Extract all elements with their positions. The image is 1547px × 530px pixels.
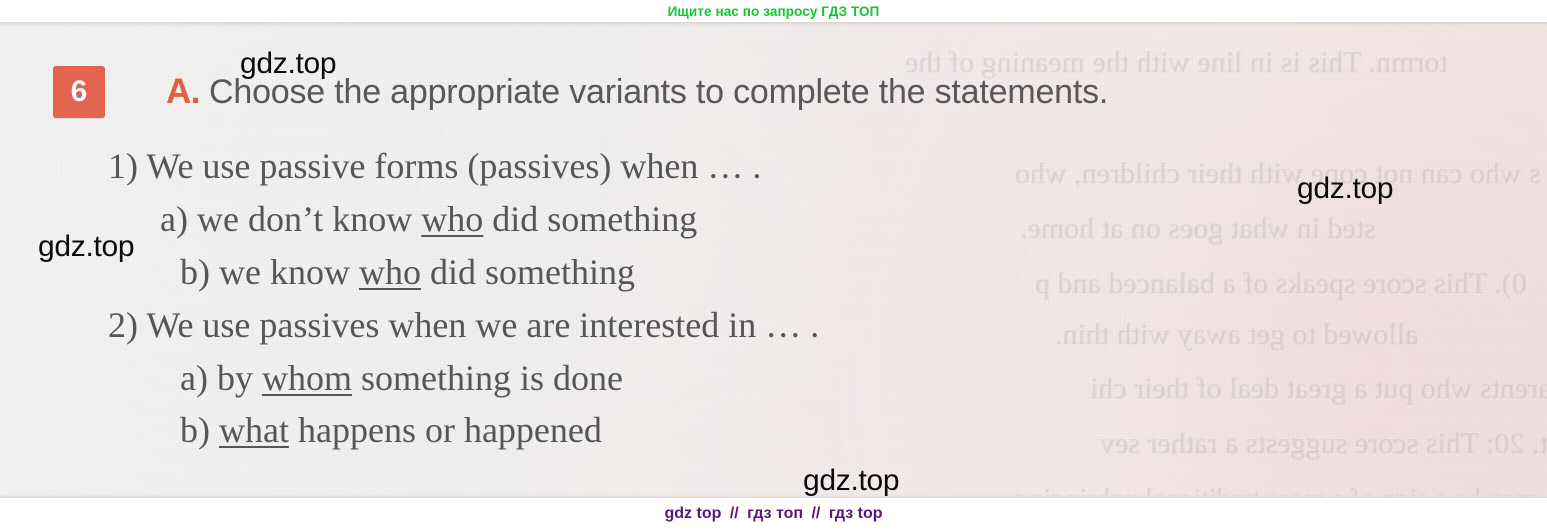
site-watermark: gdz.top: [240, 47, 336, 81]
footer-part: gdz top: [665, 505, 722, 522]
option-marker: b): [180, 410, 219, 450]
option-text-pre: we know: [219, 252, 359, 292]
exercise-number: 6: [71, 77, 88, 107]
option-marker: a): [180, 358, 217, 398]
footer-part: гдз top: [829, 505, 883, 522]
answer-option[interactable]: a) by whom something is done: [180, 360, 623, 396]
bottom-promo-banner: gdz top // гдз топ // гдз top: [0, 498, 1547, 530]
option-text-post: something is done: [352, 358, 623, 398]
option-keyword: whom: [262, 358, 352, 398]
top-promo-banner: Ищите нас по запросу ГДЗ ТОП: [0, 0, 1547, 22]
option-keyword: who: [421, 199, 483, 239]
task-instruction: Choose the appropriate variants to compl…: [209, 73, 1108, 112]
screenshot-root: Ищите нас по запросу ГДЗ ТОП tormn. This…: [0, 0, 1547, 530]
option-text-pre: by: [217, 358, 262, 398]
question-prompt: 1) We use passive forms (passives) when …: [108, 148, 761, 184]
question-text: We use passives when we are interested i…: [146, 305, 819, 345]
option-keyword: what: [219, 410, 289, 450]
site-watermark: gdz.top: [38, 230, 134, 264]
exercise-content: 6 A. Choose the appropriate variants to …: [0, 22, 1547, 500]
question-prompt: 2) We use passives when we are intereste…: [108, 307, 819, 343]
site-watermark: gdz.top: [803, 464, 899, 498]
option-text-pre: we don’t know: [197, 199, 421, 239]
scanned-page-image: tormn. This is in line with the meaning …: [0, 22, 1547, 500]
answer-option[interactable]: b) we know who did something: [180, 254, 635, 290]
bottom-promo-text: gdz top // гдз топ // гдз top: [665, 505, 883, 523]
question-marker: 1): [108, 146, 146, 186]
option-keyword: who: [359, 252, 421, 292]
footer-separator: //: [803, 505, 829, 522]
answer-option[interactable]: b) what happens or happened: [180, 412, 602, 448]
footer-separator: //: [721, 505, 747, 522]
question-text: We use passive forms (passives) when … .: [146, 146, 761, 186]
option-marker: b): [180, 252, 219, 292]
top-promo-text: Ищите нас по запросу ГДЗ ТОП: [668, 4, 880, 19]
option-text-post: happens or happened: [289, 410, 602, 450]
option-text-post: did something: [483, 199, 697, 239]
question-marker: 2): [108, 305, 146, 345]
exercise-number-badge: 6: [53, 66, 105, 118]
option-text-post: did something: [421, 252, 635, 292]
site-watermark: gdz.top: [1297, 172, 1393, 206]
footer-part: гдз топ: [747, 505, 803, 522]
answer-option[interactable]: a) we don’t know who did something: [160, 201, 697, 237]
task-part-letter: A.: [166, 72, 200, 112]
option-marker: a): [160, 199, 197, 239]
